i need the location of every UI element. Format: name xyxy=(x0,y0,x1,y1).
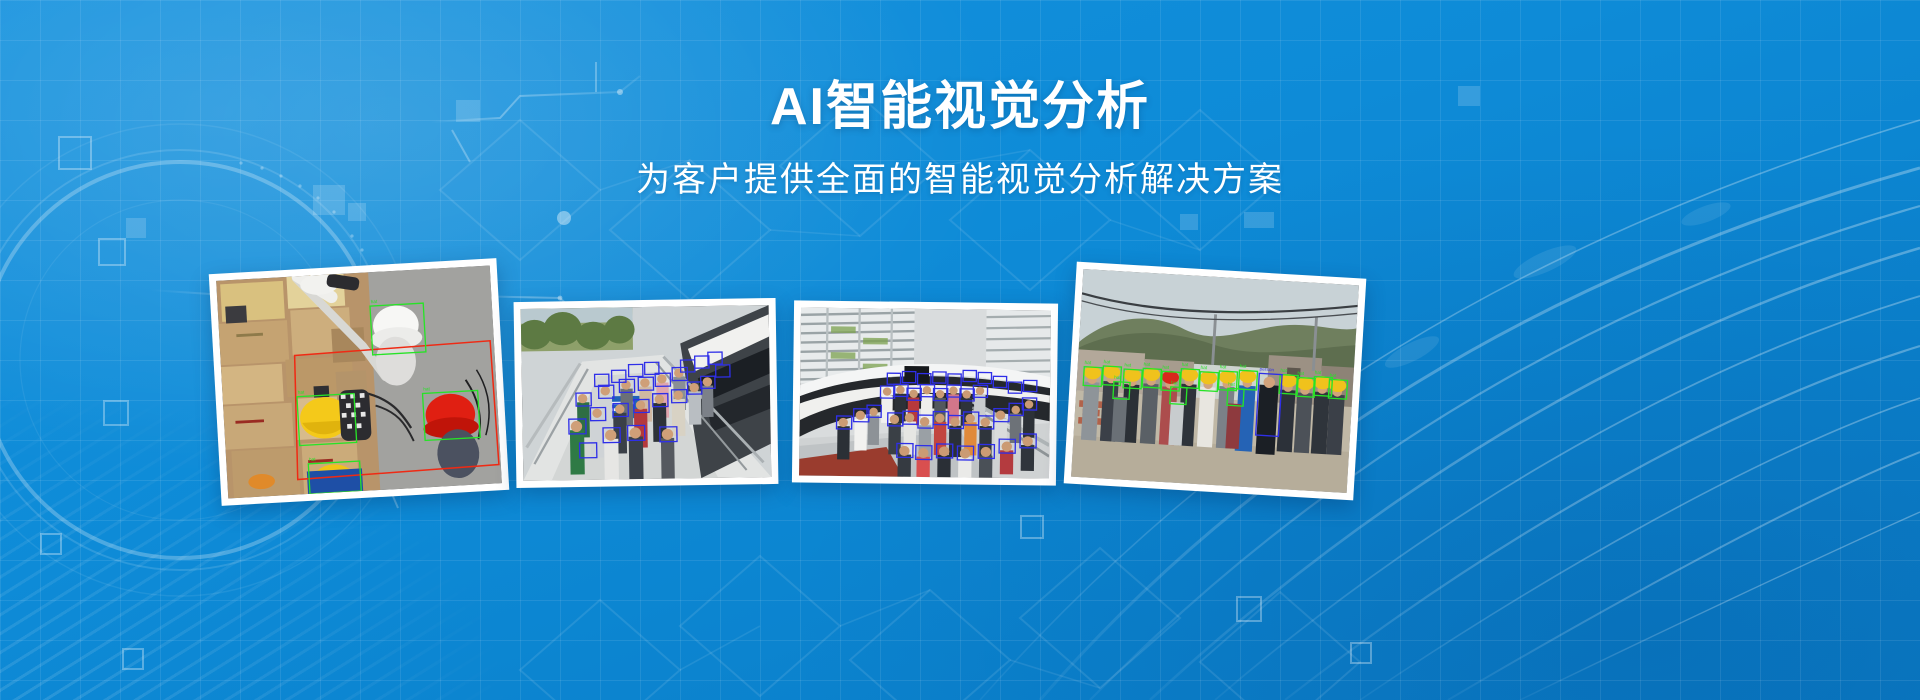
svg-text:person: person xyxy=(1259,367,1274,374)
svg-text:hat: hat xyxy=(1181,362,1189,368)
svg-text:hat: hat xyxy=(1228,382,1236,388)
photo-card-outdoor-hardhat-detection[interactable]: hathat hathat hathat hathat hathat hatha… xyxy=(1064,262,1367,501)
banner-headings: AI智能视觉分析 为客户提供全面的智能视觉分析解决方案 xyxy=(0,78,1920,201)
svg-text:hat: hat xyxy=(1297,371,1305,377)
photo-warehouse-helmet-detection: hat hat hat hat xyxy=(216,266,502,499)
svg-text:hat: hat xyxy=(1124,362,1132,368)
decor-square-filled xyxy=(348,203,366,221)
svg-text:hat: hat xyxy=(1280,368,1288,374)
ai-vision-banner: AI智能视觉分析 为客户提供全面的智能视觉分析解决方案 xyxy=(0,0,1920,700)
decor-square-outline xyxy=(1236,596,1262,622)
showcase-photo-strip: hat hat hat hat xyxy=(0,262,1920,512)
decor-square-filled xyxy=(1180,214,1198,230)
svg-text:hat: hat xyxy=(1330,373,1338,379)
svg-text:hat: hat xyxy=(1114,375,1122,381)
photo-station-platform-crowd-detection xyxy=(799,307,1051,478)
svg-text:hat: hat xyxy=(1162,365,1170,371)
svg-text:hat: hat xyxy=(1171,380,1179,386)
svg-text:hat: hat xyxy=(371,299,379,305)
svg-text:hat: hat xyxy=(1314,370,1322,376)
svg-text:hat: hat xyxy=(423,386,431,392)
photo-card-station-platform-crowd-detection[interactable] xyxy=(792,300,1058,485)
decor-square-outline xyxy=(40,533,62,555)
svg-text:hat: hat xyxy=(1240,363,1248,369)
svg-text:hat: hat xyxy=(1143,362,1151,368)
decor-square-outline xyxy=(1020,515,1044,539)
decor-square-filled xyxy=(1244,212,1274,228)
svg-text:hat: hat xyxy=(309,457,317,463)
decor-square-filled xyxy=(126,218,146,238)
photo-outdoor-hardhat-detection: hathat hathat hathat hathat hathat hatha… xyxy=(1071,269,1359,493)
svg-text:hat: hat xyxy=(1219,364,1227,370)
decor-square-outline xyxy=(1350,642,1372,664)
svg-text:hat: hat xyxy=(1103,359,1111,365)
svg-text:hat: hat xyxy=(1200,365,1208,371)
svg-text:hat: hat xyxy=(1084,360,1092,366)
photo-card-footbridge-crowd-detection[interactable] xyxy=(514,298,779,488)
decor-square-outline xyxy=(122,648,144,670)
photo-card-warehouse-helmet-detection[interactable]: hat hat hat hat xyxy=(209,258,510,506)
photo-footbridge-crowd-detection xyxy=(521,305,772,481)
page-subtitle: 为客户提供全面的智能视觉分析解决方案 xyxy=(0,160,1920,201)
page-title: AI智能视觉分析 xyxy=(0,78,1920,138)
svg-text:hat: hat xyxy=(298,390,306,396)
